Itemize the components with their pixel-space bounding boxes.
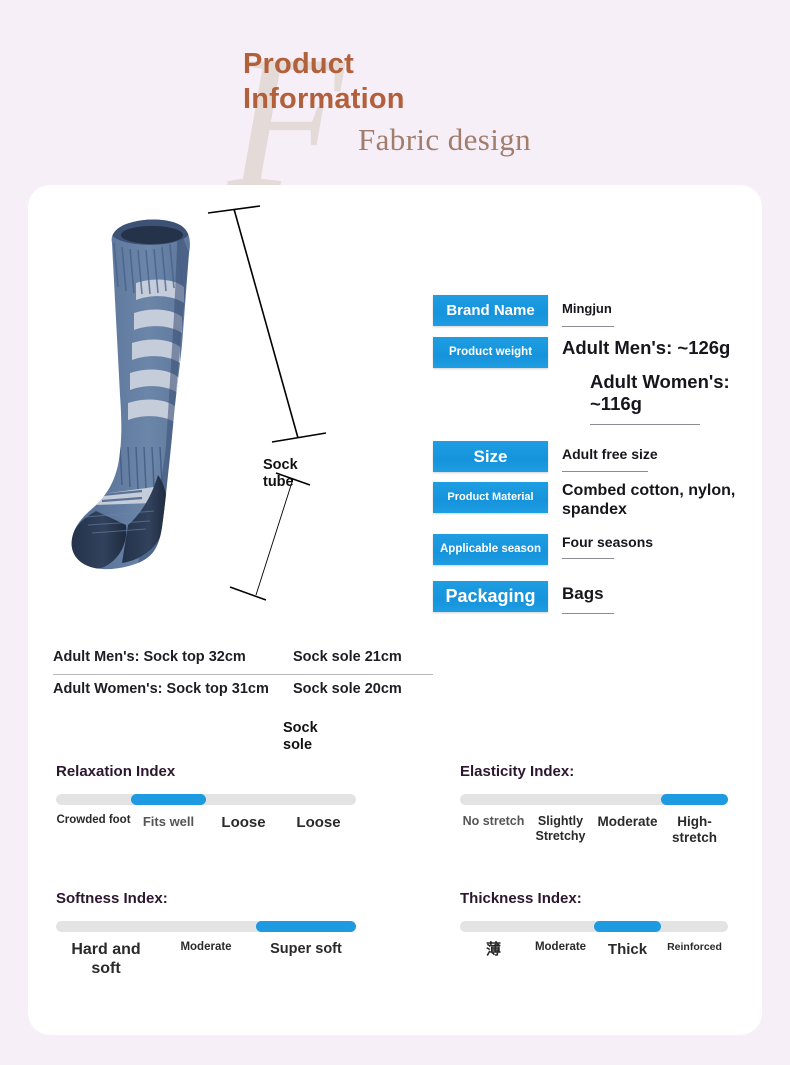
spec-value-weight-women: Adult Women's: ~116g [562, 371, 753, 415]
spec-row-product-weight: Product weight Adult Men's: ~126g Adult … [433, 337, 753, 425]
softness-index-group: Softness Index: Hard and soft Moderate S… [56, 890, 356, 979]
spec-value-size-wrap: Adult free size [548, 441, 753, 472]
spec-key-product-weight: Product weight [433, 337, 548, 368]
sock-tube-dimension-line [208, 206, 326, 442]
product-info-page: F Product Information Fabric design [0, 0, 790, 1065]
thickness-label-3: Thick [594, 941, 661, 959]
spec-key-product-material: Product Material [433, 482, 548, 513]
sock-cuff-inner [121, 226, 183, 244]
spec-value-applicable-season-wrap: Four seasons [548, 534, 753, 560]
spec-key-brand-name: Brand Name [433, 295, 548, 326]
elasticity-index-title: Elasticity Index: [460, 763, 728, 780]
spec-row-applicable-season: Applicable season Four seasons [433, 534, 753, 565]
specification-table: Brand Name Mingjun Product weight Adult … [433, 295, 753, 624]
elasticity-index-fill [661, 794, 728, 805]
softness-label-1: Hard and soft [56, 941, 156, 979]
spec-value-product-weight-wrap: Adult Men's: ~126g Adult Women's: ~116g [548, 337, 753, 425]
spec-value-weight-men: Adult Men's: ~126g [562, 337, 753, 359]
relaxation-index-title: Relaxation Index [56, 763, 356, 780]
page-title-line1: Product [243, 47, 405, 82]
content-card: Sock tube Sock sole Adult Men's: Sock to… [28, 185, 762, 1035]
relaxation-index-track[interactable] [56, 794, 356, 805]
page-title-line2: Information [243, 82, 405, 117]
spec-underline-season [562, 558, 614, 559]
spec-value-packaging-wrap: Bags [548, 581, 753, 614]
page-title: Product Information [243, 47, 405, 118]
measurement-row-women: Adult Women's: Sock top 31cm Sock sole 2… [53, 675, 433, 706]
measurement-women-top: Adult Women's: Sock top 31cm [53, 681, 293, 697]
elasticity-index-track[interactable] [460, 794, 728, 805]
elasticity-label-3: Moderate [594, 814, 661, 846]
sock-sole-label: Sock sole [283, 720, 318, 755]
sock-sole-label-line1: Sock [283, 720, 318, 737]
spec-underline-weight [590, 424, 700, 425]
elasticity-label-2: Slightly Stretchy [527, 814, 594, 846]
elasticity-label-4: High-stretch [661, 814, 728, 846]
measurement-men-top: Adult Men's: Sock top 32cm [53, 649, 293, 665]
spec-row-packaging: Packaging Bags [433, 581, 753, 614]
relaxation-index-labels: Crowded foot Fits well Loose Loose [56, 814, 356, 832]
softness-label-3: Super soft [256, 941, 356, 979]
spec-key-size: Size [433, 441, 548, 472]
thickness-index-fill [594, 921, 661, 932]
relaxation-label-4: Loose [281, 814, 356, 832]
spec-underline-packaging [562, 613, 614, 614]
thickness-label-1: 薄 [460, 941, 527, 959]
sock-tube-label-line1: Sock [263, 457, 298, 474]
measurement-women-sole: Sock sole 20cm [293, 681, 402, 697]
thickness-index-group: Thickness Index: 薄 Moderate Thick Reinfo… [460, 890, 728, 959]
thickness-index-title: Thickness Index: [460, 890, 728, 907]
spec-row-product-material: Product Material Combed cotton, nylon, s… [433, 482, 753, 520]
relaxation-label-1: Crowded foot [56, 814, 131, 832]
spec-key-applicable-season: Applicable season [433, 534, 548, 565]
spec-key-packaging: Packaging [433, 581, 548, 612]
spec-row-brand-name: Brand Name Mingjun [433, 295, 753, 327]
spec-underline-brand [562, 326, 614, 327]
softness-label-2: Moderate [156, 941, 256, 979]
spec-value-brand-name: Mingjun [562, 301, 612, 316]
spec-underline-size [562, 471, 648, 472]
spec-row-size: Size Adult free size [433, 441, 753, 472]
thickness-label-2: Moderate [527, 941, 594, 959]
spec-value-size: Adult free size [562, 446, 658, 462]
softness-index-labels: Hard and soft Moderate Super soft [56, 941, 356, 979]
elasticity-index-labels: No stretch Slightly Stretchy Moderate Hi… [460, 814, 728, 846]
sock-illustration [58, 195, 458, 625]
softness-index-fill [256, 921, 356, 932]
page-subtitle: Fabric design [358, 122, 531, 158]
measurement-list: Adult Men's: Sock top 32cm Sock sole 21c… [53, 643, 433, 706]
sock-sole-label-line2: sole [283, 737, 318, 754]
spec-value-product-material: Combed cotton, nylon, spandex [548, 482, 753, 520]
softness-index-track[interactable] [56, 921, 356, 932]
sock-tube-label: Sock tube [263, 457, 298, 492]
sock-sole-dimension-line [230, 473, 310, 600]
measurement-row-men: Adult Men's: Sock top 32cm Sock sole 21c… [53, 643, 433, 675]
sock-tube-label-line2: tube [263, 474, 298, 491]
elasticity-index-group: Elasticity Index: No stretch Slightly St… [460, 763, 728, 846]
relaxation-label-3: Loose [206, 814, 281, 832]
relaxation-index-fill [131, 794, 206, 805]
page-header: F Product Information Fabric design [0, 0, 790, 185]
thickness-label-4: Reinforced [661, 941, 728, 959]
spec-value-brand-name-wrap: Mingjun [548, 295, 753, 327]
relaxation-label-2: Fits well [131, 814, 206, 832]
thickness-index-labels: 薄 Moderate Thick Reinforced [460, 941, 728, 959]
thickness-index-track[interactable] [460, 921, 728, 932]
softness-index-title: Softness Index: [56, 890, 356, 907]
elasticity-label-1: No stretch [460, 814, 527, 846]
sock-body [58, 195, 258, 625]
spec-value-applicable-season: Four seasons [562, 534, 653, 550]
spec-value-packaging: Bags [562, 584, 604, 603]
relaxation-index-group: Relaxation Index Crowded foot Fits well … [56, 763, 356, 832]
measurement-men-sole: Sock sole 21cm [293, 649, 402, 665]
